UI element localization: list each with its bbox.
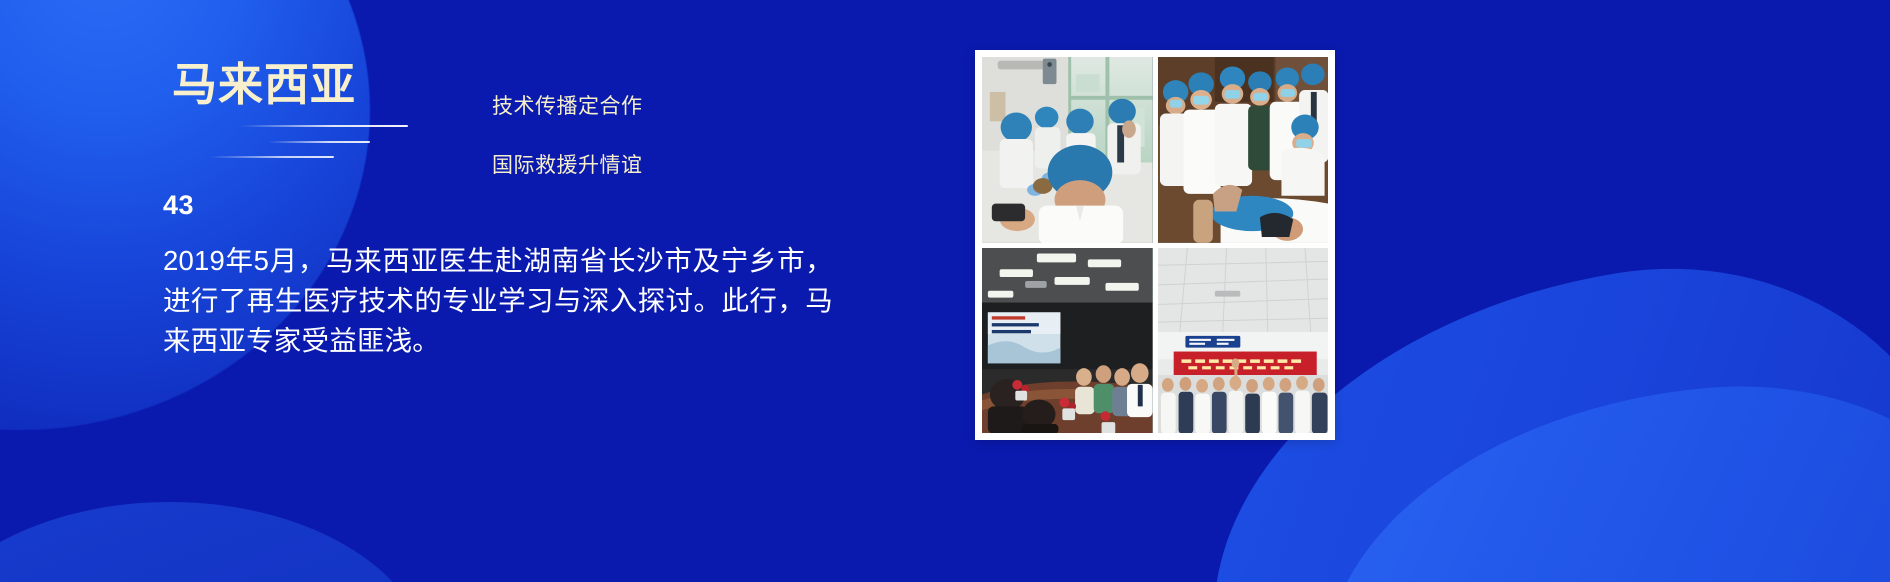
photo-doctors-examining-patient xyxy=(1158,57,1329,243)
page-title: 马来西亚 xyxy=(172,62,472,107)
title-rule-1 xyxy=(240,125,408,127)
subtitle-line-2: 国际救援升情谊 xyxy=(492,151,643,181)
photo-doctors-examining-patient-image xyxy=(1158,57,1329,243)
title-block: 马来西亚 xyxy=(172,62,472,107)
slide-root: 马来西亚 技术传播定合作 国际救援升情谊 43 2019年5月，马来西亚医生赴湖… xyxy=(0,0,1890,582)
photo-medical-demonstration-image xyxy=(982,57,1153,243)
title-underline-decoration xyxy=(172,118,402,164)
photo-medical-demonstration xyxy=(982,57,1153,243)
subtitle-line-1: 技术传播定合作 xyxy=(492,92,643,122)
content-block: 43 2019年5月，马来西亚医生赴湖南省长沙市及宁乡市，进行了再生医疗技术的专… xyxy=(163,192,833,361)
slide-header: 马来西亚 技术传播定合作 国际救援升情谊 xyxy=(0,0,1890,180)
item-number: 43 xyxy=(163,192,833,219)
title-rule-3 xyxy=(210,156,334,158)
photo-conference-room-meeting xyxy=(982,248,1153,434)
photo-conference-room-meeting-image xyxy=(982,248,1153,434)
title-rule-2 xyxy=(268,141,370,143)
photo-group-portrait-banner xyxy=(1158,248,1329,434)
subtitle-block: 技术传播定合作 国际救援升情谊 xyxy=(492,62,643,211)
photo-collage xyxy=(975,50,1335,440)
item-description: 2019年5月，马来西亚医生赴湖南省长沙市及宁乡市，进行了再生医疗技术的专业学习… xyxy=(163,241,833,361)
photo-group-portrait-banner-image xyxy=(1158,248,1329,434)
